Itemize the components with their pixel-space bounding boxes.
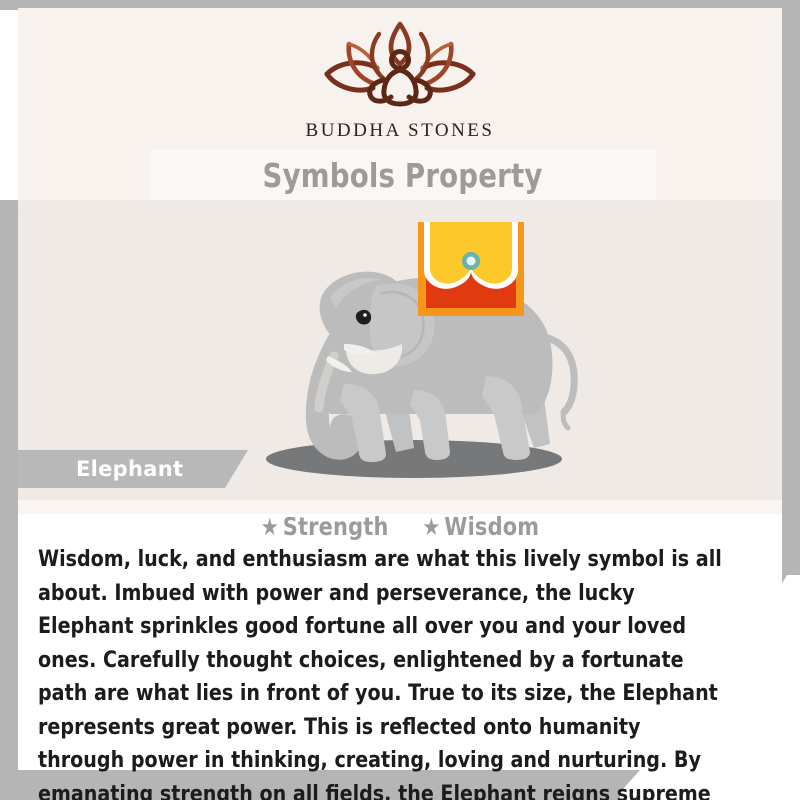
trait-list: ★Strength ★Wisdom [18, 512, 782, 541]
card-header: BUDDHA STONES Symbols Property [18, 8, 782, 200]
page-title-band: Symbols Property [150, 149, 656, 201]
description-paragraph: Wisdom, luck, and enthusiasm are what th… [38, 543, 730, 800]
symbols-property-card: BUDDHA STONES Symbols Property [0, 0, 800, 800]
symbol-label: Elephant [76, 457, 183, 481]
trait-wisdom: ★Wisdom [422, 512, 539, 541]
frame-right-bar [782, 0, 800, 575]
brand-name: BUDDHA STONES [18, 120, 782, 142]
brand-logo: BUDDHA STONES [18, 18, 782, 142]
trait-wisdom-label: Wisdom [444, 512, 539, 541]
lotus-meditation-icon [305, 18, 495, 118]
description-section: ★Strength ★Wisdom Wisdom, luck, and enth… [18, 500, 782, 770]
page-title: Symbols Property [263, 156, 543, 195]
elephant-illustration [218, 216, 598, 486]
trait-strength: ★Strength [261, 512, 389, 541]
star-icon: ★ [422, 513, 440, 541]
frame-left-bar [0, 200, 18, 800]
trait-strength-label: Strength [283, 512, 389, 541]
star-icon: ★ [261, 513, 279, 541]
symbol-label-band: Elephant [18, 450, 248, 488]
